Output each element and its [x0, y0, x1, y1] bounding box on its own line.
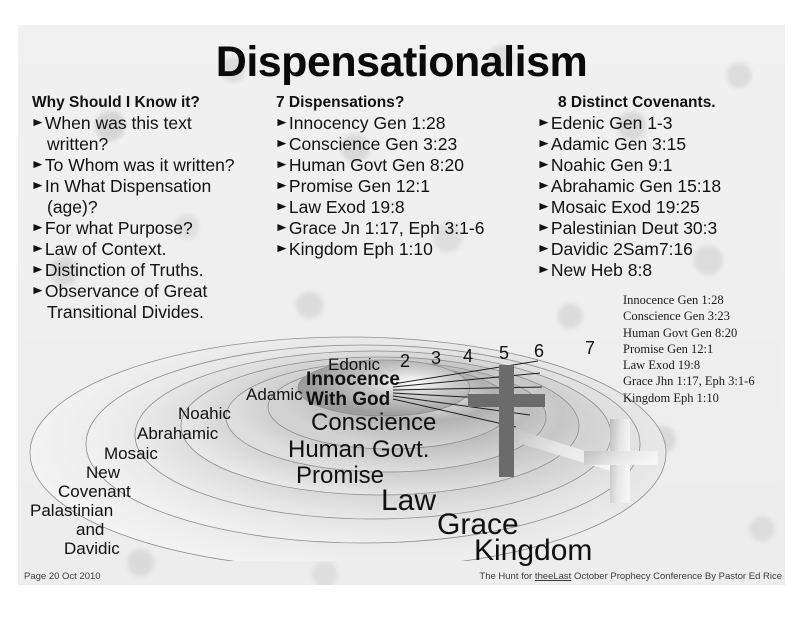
list-item-label: Adamic Gen 3:15: [551, 134, 686, 155]
column-heading: 7 Dispensations?: [276, 94, 538, 112]
arrow-bullet-icon: ►: [275, 239, 290, 258]
list-item-label: (age)?: [47, 197, 98, 218]
covenant-label-adamic: Adamic: [246, 385, 303, 405]
arrow-bullet-icon: ►: [31, 155, 46, 174]
arrow-bullet-icon: ►: [275, 176, 290, 195]
list-item-label: Promise Gen 12:1: [289, 176, 430, 197]
dispensation-label-conscience: Conscience: [311, 409, 436, 437]
list-item-label: Grace Jn 1:17, Eph 3:1-6: [289, 218, 485, 239]
list-item-label: Law of Context.: [45, 239, 167, 260]
covenant-label-abrahamic: Abrahamic: [137, 424, 218, 444]
list-item: written?: [32, 134, 282, 155]
list-item-label: Transitional Divides.: [47, 302, 204, 323]
list-item-label: written?: [47, 134, 108, 155]
column-heading: Why Should I Know it?: [32, 94, 282, 112]
list-item: ►When was this text: [32, 113, 282, 134]
scripture-item: Kingdom Eph 1:10: [623, 390, 755, 406]
arrow-bullet-icon: ►: [275, 155, 290, 174]
footer-underlined: theeLast: [535, 571, 571, 582]
ring-number-5: 5: [499, 343, 509, 364]
list-item: ►Adamic Gen 3:15: [538, 134, 785, 155]
list-item-label: Abrahamic Gen 15:18: [551, 176, 721, 197]
list-item-label: Davidic 2Sam7:16: [551, 239, 693, 260]
list-item: ►Law of Context.: [32, 239, 282, 260]
ring-number-3: 3: [431, 348, 441, 369]
scripture-item: Conscience Gen 3:23: [623, 308, 755, 324]
arrow-bullet-icon: ►: [31, 239, 46, 258]
column-7-dispensations: 7 Dispensations? ►Innocency Gen 1:28 ►Co…: [276, 94, 538, 260]
list-item: ►Grace Jn 1:17, Eph 3:1-6: [276, 218, 538, 239]
covenant-label-davidic: Davidic: [64, 539, 120, 559]
list-item: ►Law Exod 19:8: [276, 197, 538, 218]
ring-number-4: 4: [463, 346, 473, 367]
column-8-distinct-covenants: 8 Distinct Covenants. ►Edenic Gen 1-3 ►A…: [538, 94, 785, 281]
dispensation-label-with-god: With God: [306, 389, 390, 411]
slide-canvas: Dispensationalism Why Should I Know it? …: [18, 25, 785, 585]
dispensation-label-kingdom: Kingdom: [474, 534, 592, 568]
covenant-label-mosaic: Mosaic: [104, 444, 158, 464]
arrow-bullet-icon: ►: [537, 218, 552, 237]
list-item: ►Palestinian Deut 30:3: [538, 218, 785, 239]
list-item: ►Davidic 2Sam7:16: [538, 239, 785, 260]
footer-post: October Prophecy Conference By Pastor Ed…: [571, 571, 782, 582]
list-item-label: Distinction of Truths.: [45, 260, 204, 281]
arrow-bullet-icon: ►: [537, 113, 552, 132]
footer-pre: The Hunt for: [479, 571, 534, 582]
list-item: ►For what Purpose?: [32, 218, 282, 239]
list-item-label: To Whom was it written?: [45, 155, 235, 176]
ring-number-7: 7: [585, 338, 595, 359]
arrow-bullet-icon: ►: [537, 176, 552, 195]
arrow-bullet-icon: ►: [275, 218, 290, 237]
covenant-label-noahic: Noahic: [178, 404, 231, 424]
list-item: ►Kingdom Eph 1:10: [276, 239, 538, 260]
list-item-label: Law Exod 19:8: [289, 197, 405, 218]
arrow-bullet-icon: ►: [537, 239, 552, 258]
covenant-label-new: New: [86, 463, 120, 483]
list-item: ►Human Govt Gen 8:20: [276, 155, 538, 176]
list-item: (age)?: [32, 197, 282, 218]
list-item: Transitional Divides.: [32, 302, 282, 323]
arrow-bullet-icon: ►: [31, 176, 46, 195]
covenant-label-palastinian: Palastinian: [30, 501, 113, 521]
list-item-label: In What Dispensation: [45, 176, 211, 197]
dispensation-label-law: Law: [381, 484, 436, 518]
list-item: ►In What Dispensation: [32, 176, 282, 197]
scripture-item: Human Govt Gen 8:20: [623, 325, 755, 341]
list-item-label: New Heb 8:8: [551, 260, 652, 281]
covenant-label-and: and: [76, 520, 104, 540]
scripture-item: Law Exod 19:8: [623, 357, 755, 373]
arrow-bullet-icon: ►: [537, 260, 552, 279]
list-item: ►Mosaic Exod 19:25: [538, 197, 785, 218]
arrow-bullet-icon: ►: [275, 113, 290, 132]
scripture-reference-list: Innocence Gen 1:28 Conscience Gen 3:23 H…: [623, 292, 755, 406]
arrow-bullet-icon: ►: [31, 260, 46, 279]
arrow-bullet-icon: ►: [31, 281, 46, 300]
column-why-should-i-know-it: Why Should I Know it? ►When was this tex…: [32, 94, 282, 323]
ring-number-2: 2: [400, 351, 410, 372]
arrow-bullet-icon: ►: [275, 134, 290, 153]
list-item: ►New Heb 8:8: [538, 260, 785, 281]
list-item: ►Innocency Gen 1:28: [276, 113, 538, 134]
column-heading: 8 Distinct Covenants.: [538, 94, 785, 112]
list-item: ►Conscience Gen 3:23: [276, 134, 538, 155]
dispensation-label-human-govt: Human Govt.: [288, 436, 429, 464]
list-item: ►Edenic Gen 1-3: [538, 113, 785, 134]
list-item-label: Human Govt Gen 8:20: [289, 155, 464, 176]
scripture-item: Innocence Gen 1:28: [623, 292, 755, 308]
list-item: ►To Whom was it written?: [32, 155, 282, 176]
arrow-bullet-icon: ►: [31, 218, 46, 237]
dispensation-label-promise: Promise: [296, 462, 384, 490]
arrow-bullet-icon: ►: [537, 155, 552, 174]
footer-page-date: Page 20 Oct 2010: [24, 571, 101, 582]
page-title: Dispensationalism: [18, 38, 785, 87]
arrow-bullet-icon: ►: [537, 134, 552, 153]
ring-number-6: 6: [534, 341, 544, 362]
list-item-label: When was this text: [45, 113, 192, 134]
list-item-label: For what Purpose?: [45, 218, 193, 239]
list-item-label: Conscience Gen 3:23: [289, 134, 457, 155]
dispensation-label-innocence: Innocence: [306, 369, 400, 391]
column-list: ►Edenic Gen 1-3 ►Adamic Gen 3:15 ►Noahic…: [538, 113, 785, 281]
scripture-item: Promise Gen 12:1: [623, 341, 755, 357]
list-item-label: Noahic Gen 9:1: [551, 155, 673, 176]
scripture-item: Grace Jhn 1:17, Eph 3:1-6: [623, 373, 755, 389]
list-item: ►Observance of Great: [32, 281, 282, 302]
arrow-bullet-icon: ►: [31, 113, 46, 132]
list-item: ►Distinction of Truths.: [32, 260, 282, 281]
arrow-bullet-icon: ►: [275, 197, 290, 216]
list-item-label: Kingdom Eph 1:10: [289, 239, 433, 260]
column-list: ►Innocency Gen 1:28 ►Conscience Gen 3:23…: [276, 113, 538, 260]
arrow-bullet-icon: ►: [537, 197, 552, 216]
covenant-label-covenant: Covenant: [58, 482, 131, 502]
footer-conference-credit: The Hunt for theeLast October Prophecy C…: [479, 571, 782, 582]
list-item-label: Mosaic Exod 19:25: [551, 197, 700, 218]
list-item-label: Observance of Great: [45, 281, 207, 302]
list-item: ►Abrahamic Gen 15:18: [538, 176, 785, 197]
column-list: ►When was this text written? ►To Whom wa…: [32, 113, 282, 323]
list-item-label: Palestinian Deut 30:3: [551, 218, 717, 239]
list-item-label: Edenic Gen 1-3: [551, 113, 673, 134]
list-item-label: Innocency Gen 1:28: [289, 113, 446, 134]
list-item: ►Noahic Gen 9:1: [538, 155, 785, 176]
list-item: ►Promise Gen 12:1: [276, 176, 538, 197]
